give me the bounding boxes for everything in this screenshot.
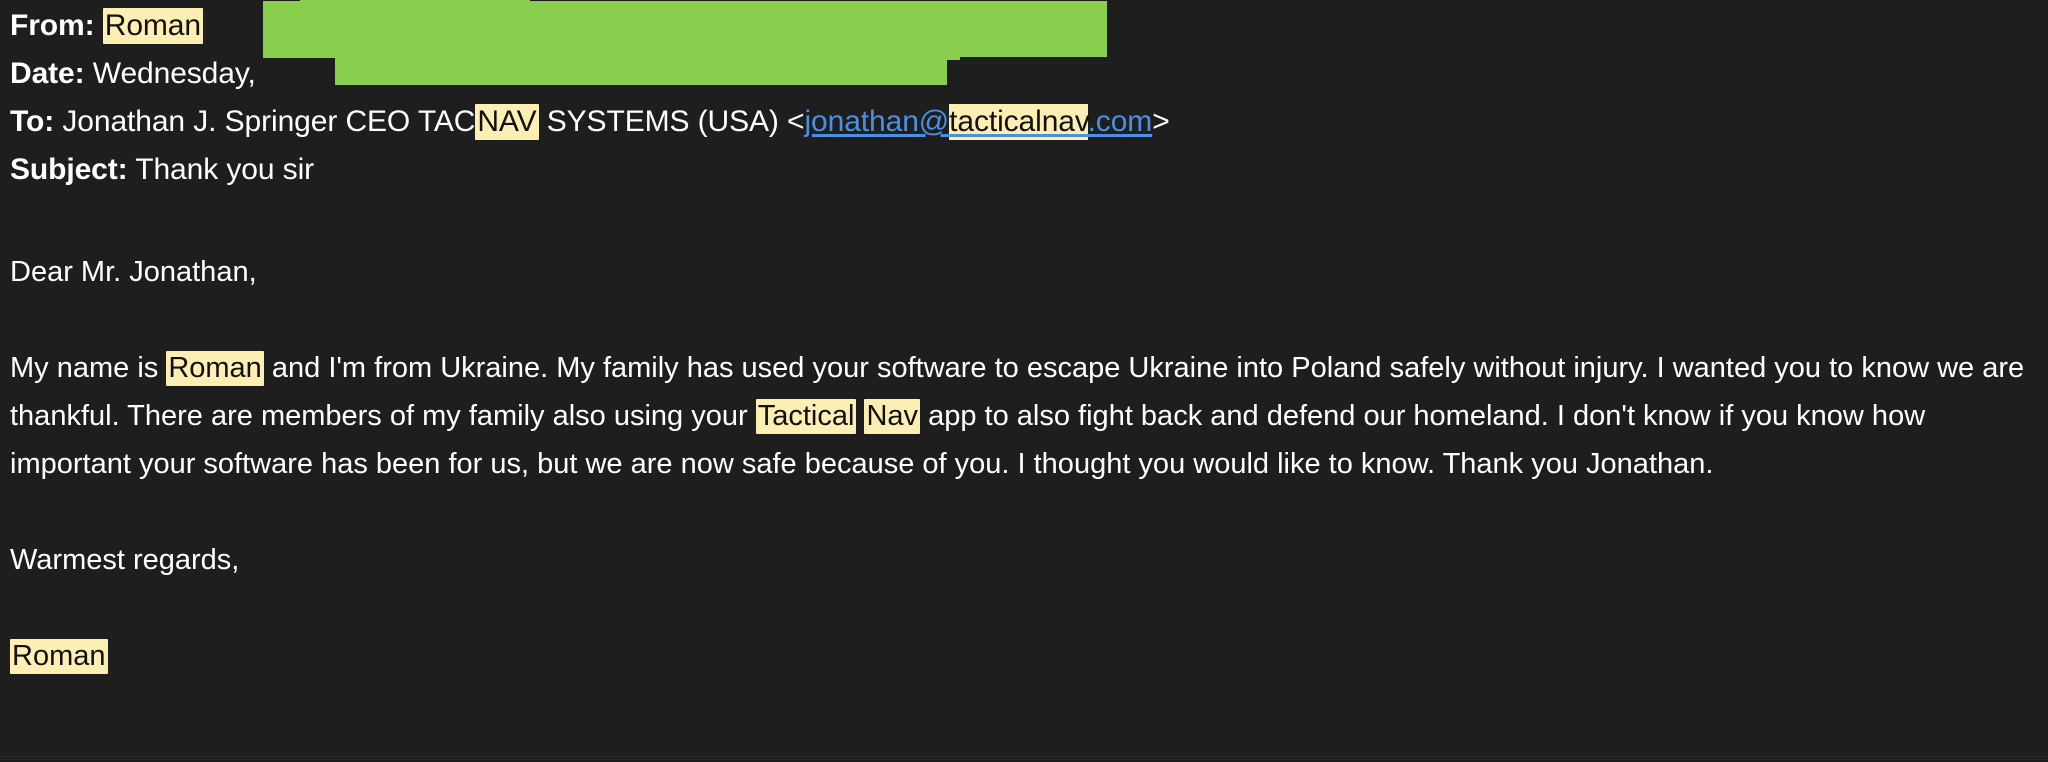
to-recipient-org: SYSTEMS (USA) [539,105,788,138]
header-row-to: To: Jonathan J. Springer CEO TACNAV SYST… [10,98,2040,146]
body-product-highlight-nav: Nav [864,399,920,434]
date-value: Wednesday, [93,57,256,90]
email-local-part: jonathan@ [804,105,949,138]
body-seg-1: My name is [10,352,166,384]
from-label: From: [10,9,95,42]
from-sender-name: Roman [103,8,203,44]
body-paragraph: My name is Roman and I'm from Ukraine. M… [10,344,2040,488]
body-product-highlight-tactical: Tactical [756,399,857,434]
body-spacer-2 [10,488,2040,536]
body-salutation: Dear Mr. Jonathan, [10,248,2040,296]
body-spacer-3 [10,584,2040,632]
angle-bracket-close: > [1152,105,1169,138]
email-body: Dear Mr. Jonathan, My name is Roman and … [10,248,2040,680]
recipient-email-link[interactable]: jonathan@tacticalnav.com [804,104,1152,140]
email-tld: .com [1088,105,1153,138]
email-domain-highlight: tacticalnav [949,104,1087,140]
body-name-highlight: Roman [166,351,264,386]
header-row-date: Date: Wednesday, [10,50,2040,98]
header-row-from: From: Roman [10,2,2040,50]
to-label: To: [10,105,54,138]
body-signature-line: Roman [10,632,2040,680]
angle-bracket-open: < [787,105,804,138]
to-recipient-name: Jonathan J. Springer CEO TAC [62,105,475,138]
subject-value: Thank you sir [135,153,314,186]
subject-label: Subject: [10,153,128,186]
bottom-hairline-2 [0,759,2048,760]
body-spacer-1 [10,296,2040,344]
date-label: Date: [10,57,85,90]
to-recipient-name-highlight: NAV [475,104,538,140]
email-screenshot: From: Roman Date: Wednesday, To: Jonatha… [0,0,2048,762]
header-row-subject: Subject: Thank you sir [10,146,2040,194]
email-header-block: From: Roman Date: Wednesday, To: Jonatha… [10,2,2040,194]
bottom-hairline-1 [0,756,2048,757]
body-closing: Warmest regards, [10,536,2040,584]
body-signature-highlight: Roman [10,639,108,674]
